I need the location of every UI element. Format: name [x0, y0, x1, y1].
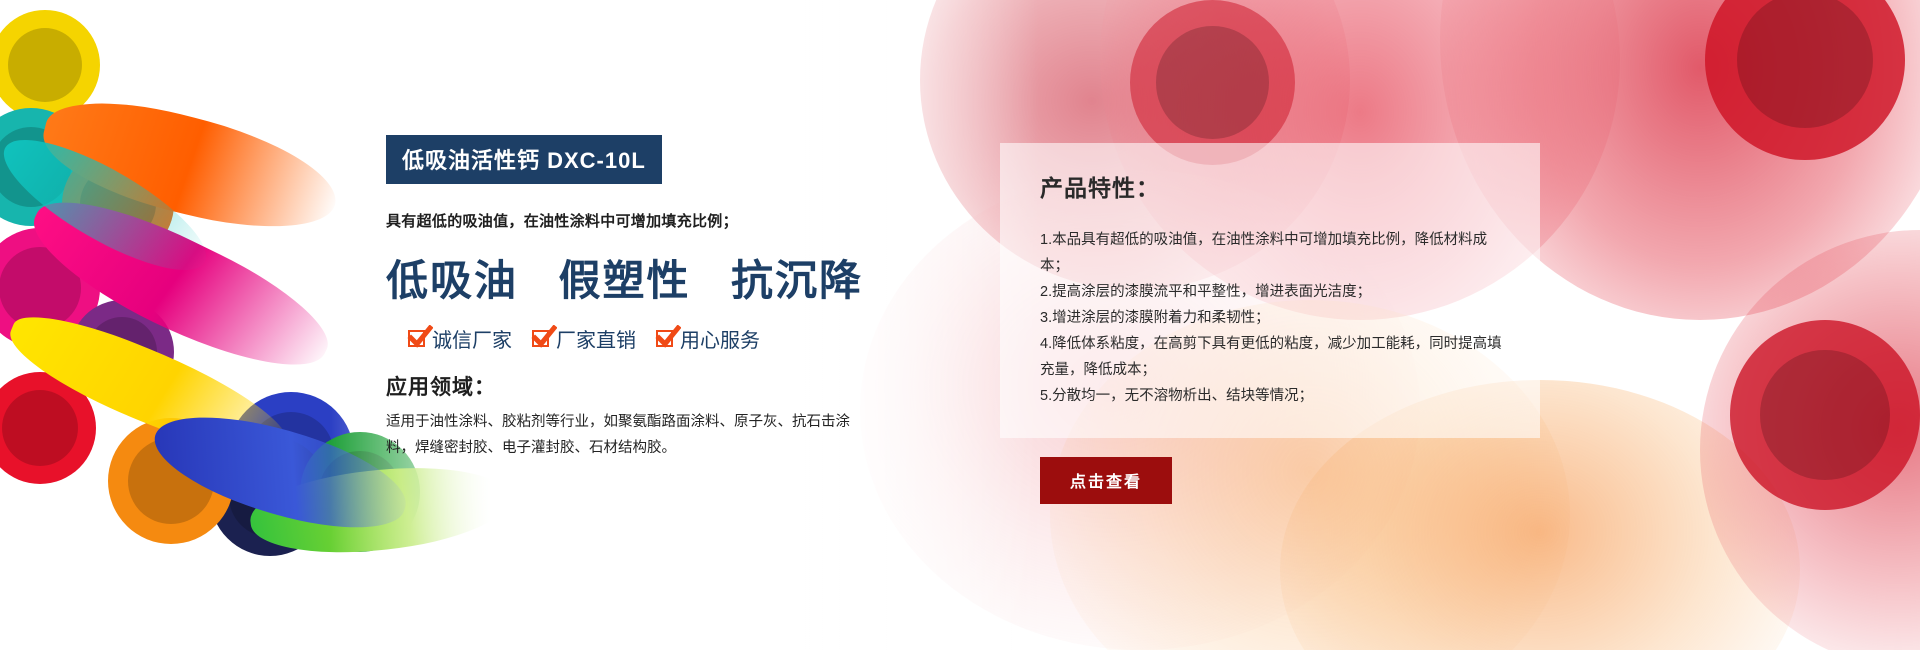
- features-list: 1.本品具有超低的吸油值，在油性涂料中可增加填充比例，降低材料成本； 2.提高涂…: [1040, 227, 1506, 409]
- product-headline: 低吸油 假塑性 抗沉降: [386, 247, 886, 308]
- checkbox-checked-icon: [408, 330, 425, 347]
- checkbox-checked-icon: [532, 330, 549, 347]
- paint-cup-crimson-center: [1130, 0, 1295, 165]
- trust-badge-3: 用心服务: [656, 324, 760, 353]
- trust-badge-2-label: 厂家直销: [556, 324, 636, 353]
- product-subline: 具有超低的吸油值，在油性涂料中可增加填充比例；: [386, 210, 886, 231]
- headline-word-1: 低吸油: [386, 259, 518, 305]
- features-list-item: 1.本品具有超低的吸油值，在油性涂料中可增加填充比例，降低材料成本；: [1040, 227, 1506, 279]
- view-details-button[interactable]: 点击查看: [1040, 457, 1172, 504]
- paint-cup-red-right-lower: [1730, 320, 1920, 510]
- features-list-item: 3.增进涂层的漆膜附着力和柔韧性；: [1040, 305, 1506, 331]
- trust-badge-1-label: 诚信厂家: [432, 324, 512, 353]
- application-heading: 应用领域：: [386, 371, 886, 401]
- trust-badge-2: 厂家直销: [532, 324, 636, 353]
- trust-badge-row: 诚信厂家 厂家直销 用心服务: [386, 324, 886, 353]
- features-panel-title: 产品特性：: [1040, 169, 1506, 203]
- headline-word-3: 抗沉降: [731, 259, 863, 305]
- features-panel: 产品特性： 1.本品具有超低的吸油值，在油性涂料中可增加填充比例，降低材料成本；…: [1000, 143, 1540, 438]
- promo-banner: 低吸油活性钙 DXC-10L 具有超低的吸油值，在油性涂料中可增加填充比例； 低…: [0, 0, 1920, 650]
- trust-badge-1: 诚信厂家: [408, 324, 512, 353]
- features-list-item: 4.降低体系粘度，在高剪下具有更低的粘度，减少加工能耗，同时提高填充量，降低成本…: [1040, 331, 1506, 383]
- headline-word-2: 假塑性: [559, 259, 691, 305]
- trust-badge-3-label: 用心服务: [680, 324, 760, 353]
- application-body: 适用于油性涂料、胶粘剂等行业，如聚氨酯路面涂料、原子灰、抗石击涂料，焊缝密封胶、…: [386, 409, 856, 461]
- features-list-item: 5.分散均一，无不溶物析出、结块等情况；: [1040, 383, 1506, 409]
- left-copy-block: 低吸油活性钙 DXC-10L 具有超低的吸油值，在油性涂料中可增加填充比例； 低…: [386, 135, 886, 461]
- checkbox-checked-icon: [656, 330, 673, 347]
- features-list-item: 2.提高涂层的漆膜流平和平整性，增进表面光洁度；: [1040, 279, 1506, 305]
- product-title-chip: 低吸油活性钙 DXC-10L: [386, 135, 662, 184]
